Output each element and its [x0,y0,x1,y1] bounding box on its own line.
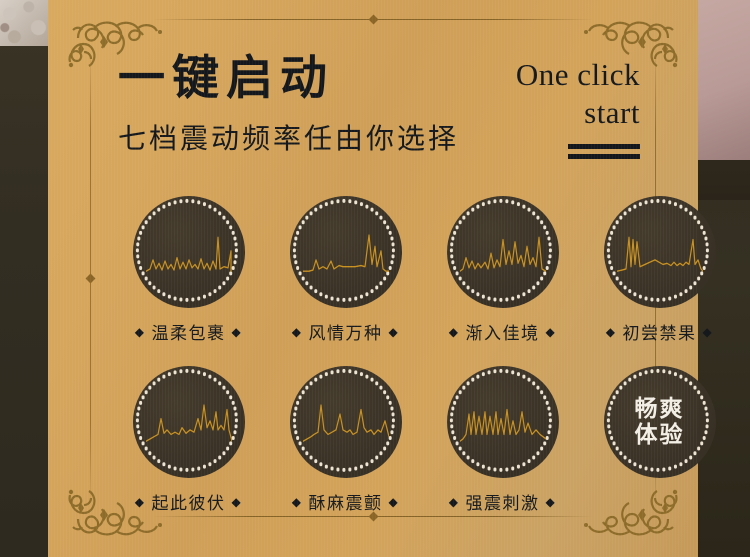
vibration-mode-label: ◆起此彼伏◆ [135,489,242,514]
diamond-bullet-icon: ◆ [135,326,146,338]
vibration-mode-disc[interactable] [604,196,716,308]
diamond-bullet-icon: ◆ [703,326,714,338]
vibration-mode-item[interactable]: ◆酥麻震颤◆ [267,366,424,514]
english-title-line1: One click [410,56,640,94]
diamond-bullet-icon: ◆ [546,496,557,508]
vibration-mode-item[interactable]: ◆初尝禁果◆ [581,196,738,344]
poster-canvas: 一键启动 七档震动频率任由你选择 One click start ◆温柔包裹◆◆… [0,0,750,557]
vibration-mode-label-text: 渐入佳境 [466,319,540,344]
vibration-mode-label: ◆温柔包裹◆ [135,319,242,344]
vibration-mode-item[interactable]: ◆温柔包裹◆ [110,196,267,344]
divider-line-top [153,19,593,20]
vibration-mode-label: ◆强震刺激◆ [449,489,556,514]
diamond-ornament-icon [369,15,379,25]
rising-bliss-waveform [460,226,546,278]
vibration-mode-disc[interactable] [133,196,245,308]
vibration-mode-label: ◆初尝禁果◆ [606,319,713,344]
background-texture-right-lower [690,160,750,200]
vibration-mode-label-text: 酥麻震颤 [309,489,383,514]
gold-panel: 一键启动 七档震动频率任由你选择 One click start ◆温柔包裹◆◆… [48,0,698,557]
vibration-mode-item[interactable]: ◆风情万种◆ [267,196,424,344]
vibration-mode-disc[interactable] [290,366,402,478]
vibration-mode-label-text: 风情万种 [309,319,383,344]
disc-text-line2: 体验 [635,422,685,448]
vibration-mode-grid: ◆温柔包裹◆◆风情万种◆◆渐入佳境◆◆初尝禁果◆◆起此彼伏◆◆酥麻震颤◆◆强震刺… [110,196,738,514]
vibration-mode-disc[interactable] [447,366,559,478]
english-title: One click start [410,56,640,132]
vibration-mode-item[interactable]: ◆渐入佳境◆ [424,196,581,344]
diamond-bullet-icon: ◆ [606,326,617,338]
vibration-mode-label-text: 强震刺激 [466,489,540,514]
gentle-wrap-waveform [146,226,232,278]
vibration-mode-disc[interactable] [447,196,559,308]
vibration-mode-label: ◆渐入佳境◆ [449,319,556,344]
vibration-mode-label: ◆风情万种◆ [292,319,399,344]
diamond-bullet-icon: ◆ [232,496,243,508]
diamond-ornament-icon [86,274,96,284]
divider-line-bottom [153,516,593,517]
diamond-bullet-icon: ◆ [389,496,400,508]
vibration-mode-label: ◆酥麻震颤◆ [292,489,399,514]
english-title-line2: start [410,94,640,132]
vibration-mode-disc[interactable] [290,196,402,308]
background-texture-top-left [0,0,48,46]
diamond-bullet-icon: ◆ [389,326,400,338]
undulating-waveform [146,396,232,448]
vibration-mode-label-text: 温柔包裹 [152,319,226,344]
varied-charm-waveform [303,226,389,278]
first-taste-waveform [617,226,703,278]
vibration-mode-disc[interactable] [133,366,245,478]
disc-text-line1: 畅爽 [635,396,685,422]
disc-text: 畅爽体验 [635,396,685,448]
diamond-bullet-icon: ◆ [449,326,460,338]
page-subtitle: 七档震动频率任由你选择 [118,126,459,154]
vibration-mode-label-text: 初尝禁果 [623,319,697,344]
page-title: 一键启动 [118,56,334,103]
diamond-bullet-icon: ◆ [232,326,243,338]
background-strip-left [0,0,52,557]
diamond-bullet-icon: ◆ [292,496,303,508]
vibration-mode-label-text: 起此彼伏 [152,489,226,514]
diamond-bullet-icon: ◆ [135,496,146,508]
background-texture-top-right [690,0,750,160]
double-bar-ornament [568,144,640,164]
vibration-mode-disc[interactable]: 畅爽体验 [604,366,716,478]
vibration-mode-item[interactable]: 畅爽体验◆◆ [581,366,738,514]
diamond-bullet-icon: ◆ [546,326,557,338]
tingling-tremor-waveform [303,396,389,448]
diamond-bullet-icon: ◆ [292,326,303,338]
diamond-bullet-icon: ◆ [449,496,460,508]
vibration-mode-item[interactable]: ◆强震刺激◆ [424,366,581,514]
strong-shock-waveform [460,396,546,448]
vibration-mode-item[interactable]: ◆起此彼伏◆ [110,366,267,514]
